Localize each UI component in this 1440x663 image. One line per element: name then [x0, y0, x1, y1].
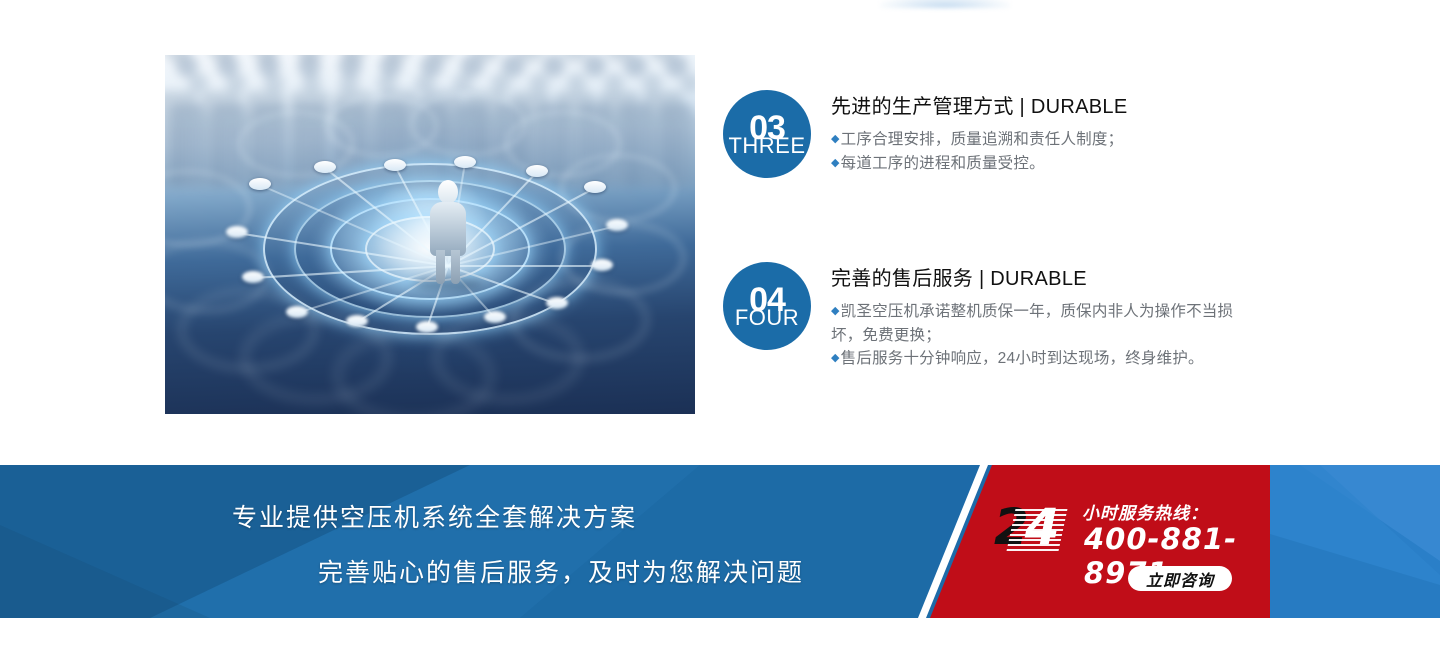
person-head	[438, 180, 458, 204]
feature-number-word: FOUR	[735, 307, 799, 329]
feature-bullet-text: 工序合理安排，质量追溯和责任人制度；	[841, 131, 1124, 148]
blurred-cylinder	[238, 111, 354, 177]
twentyfour-graphic: 2 4	[994, 501, 1060, 549]
hotline-block: 2 4 小时服务热线： 400-881-8971	[994, 497, 1254, 567]
feature-item-03: 03 THREE 先进的生产管理方式 | DURABLE ◆工序合理安排，质量追…	[723, 90, 1283, 200]
feature-badge-04: 04 FOUR	[723, 262, 811, 350]
hotline-label: 小时服务热线：	[1082, 499, 1208, 524]
person-left-leg	[436, 250, 445, 284]
blurred-cylinder	[561, 222, 685, 294]
twentyfour-digit-2: 2	[994, 506, 1029, 549]
network-node	[454, 156, 476, 168]
feature-title: 完善的售后服务 | DURABLE	[831, 262, 1283, 291]
network-node	[249, 178, 271, 190]
diamond-bullet-icon: ◆	[831, 157, 840, 169]
banner-slogan: 专业提供空压机系统全套解决方案 完善贴心的售后服务，及时为您解决问题	[0, 465, 930, 618]
feature-bullet-line: ◆工序合理安排，质量追溯和责任人制度；	[831, 128, 1283, 152]
diamond-bullet-icon: ◆	[831, 305, 840, 317]
feature-list: 03 THREE 先进的生产管理方式 | DURABLE ◆工序合理安排，质量追…	[723, 88, 1283, 434]
feature-text-03: 先进的生产管理方式 | DURABLE ◆工序合理安排，质量追溯和责任人制度； …	[831, 90, 1283, 175]
slogan-line-1: 专业提供空压机系统全套解决方案	[232, 498, 637, 534]
crowd-figure	[675, 115, 695, 187]
diamond-bullet-icon: ◆	[831, 133, 840, 145]
diamond-bullet-icon: ◆	[831, 352, 840, 364]
feature-badge-03: 03 THREE	[723, 90, 811, 178]
person-right-leg	[451, 250, 460, 284]
twentyfour-digit-4-wrap: 4	[1025, 506, 1060, 549]
consult-now-button[interactable]: 立即咨询	[1128, 566, 1232, 591]
feature-bullet-text: 凯圣空压机承诺整机质保一年，质保内非人为操作不当损坏，免费更换；	[831, 303, 1233, 344]
feature-bullet-line: ◆凯圣空压机承诺整机质保一年，质保内非人为操作不当损坏，免费更换；	[831, 300, 1246, 347]
feature-bullet-line: ◆售后服务十分钟响应，24小时到达现场，终身维护。	[831, 347, 1246, 371]
feature-number-word: THREE	[728, 135, 805, 157]
network-connection-illustration	[165, 55, 695, 414]
twentyfour-digit-4: 4	[1025, 498, 1060, 556]
feature-item-04: 04 FOUR 完善的售后服务 | DURABLE ◆凯圣空压机承诺整机质保一年…	[723, 262, 1283, 372]
feature-bullet-text: 每道工序的进程和质量受控。	[841, 155, 1045, 172]
central-person-icon	[427, 180, 469, 282]
consult-now-label: 立即咨询	[1146, 567, 1214, 591]
network-node	[384, 159, 406, 171]
promo-page: 03 THREE 先进的生产管理方式 | DURABLE ◆工序合理安排，质量追…	[0, 0, 1440, 663]
top-edge-smudge	[880, 0, 1010, 8]
feature-bullet-line: ◆每道工序的进程和质量受控。	[831, 152, 1283, 176]
slogan-line-2: 完善贴心的售后服务，及时为您解决问题	[318, 553, 804, 589]
feature-bullet-text: 售后服务十分钟响应，24小时到达现场，终身维护。	[841, 350, 1204, 367]
feature-text-04: 完善的售后服务 | DURABLE ◆凯圣空压机承诺整机质保一年，质保内非人为操…	[831, 262, 1283, 371]
person-body	[430, 202, 466, 256]
feature-title: 先进的生产管理方式 | DURABLE	[831, 90, 1283, 119]
